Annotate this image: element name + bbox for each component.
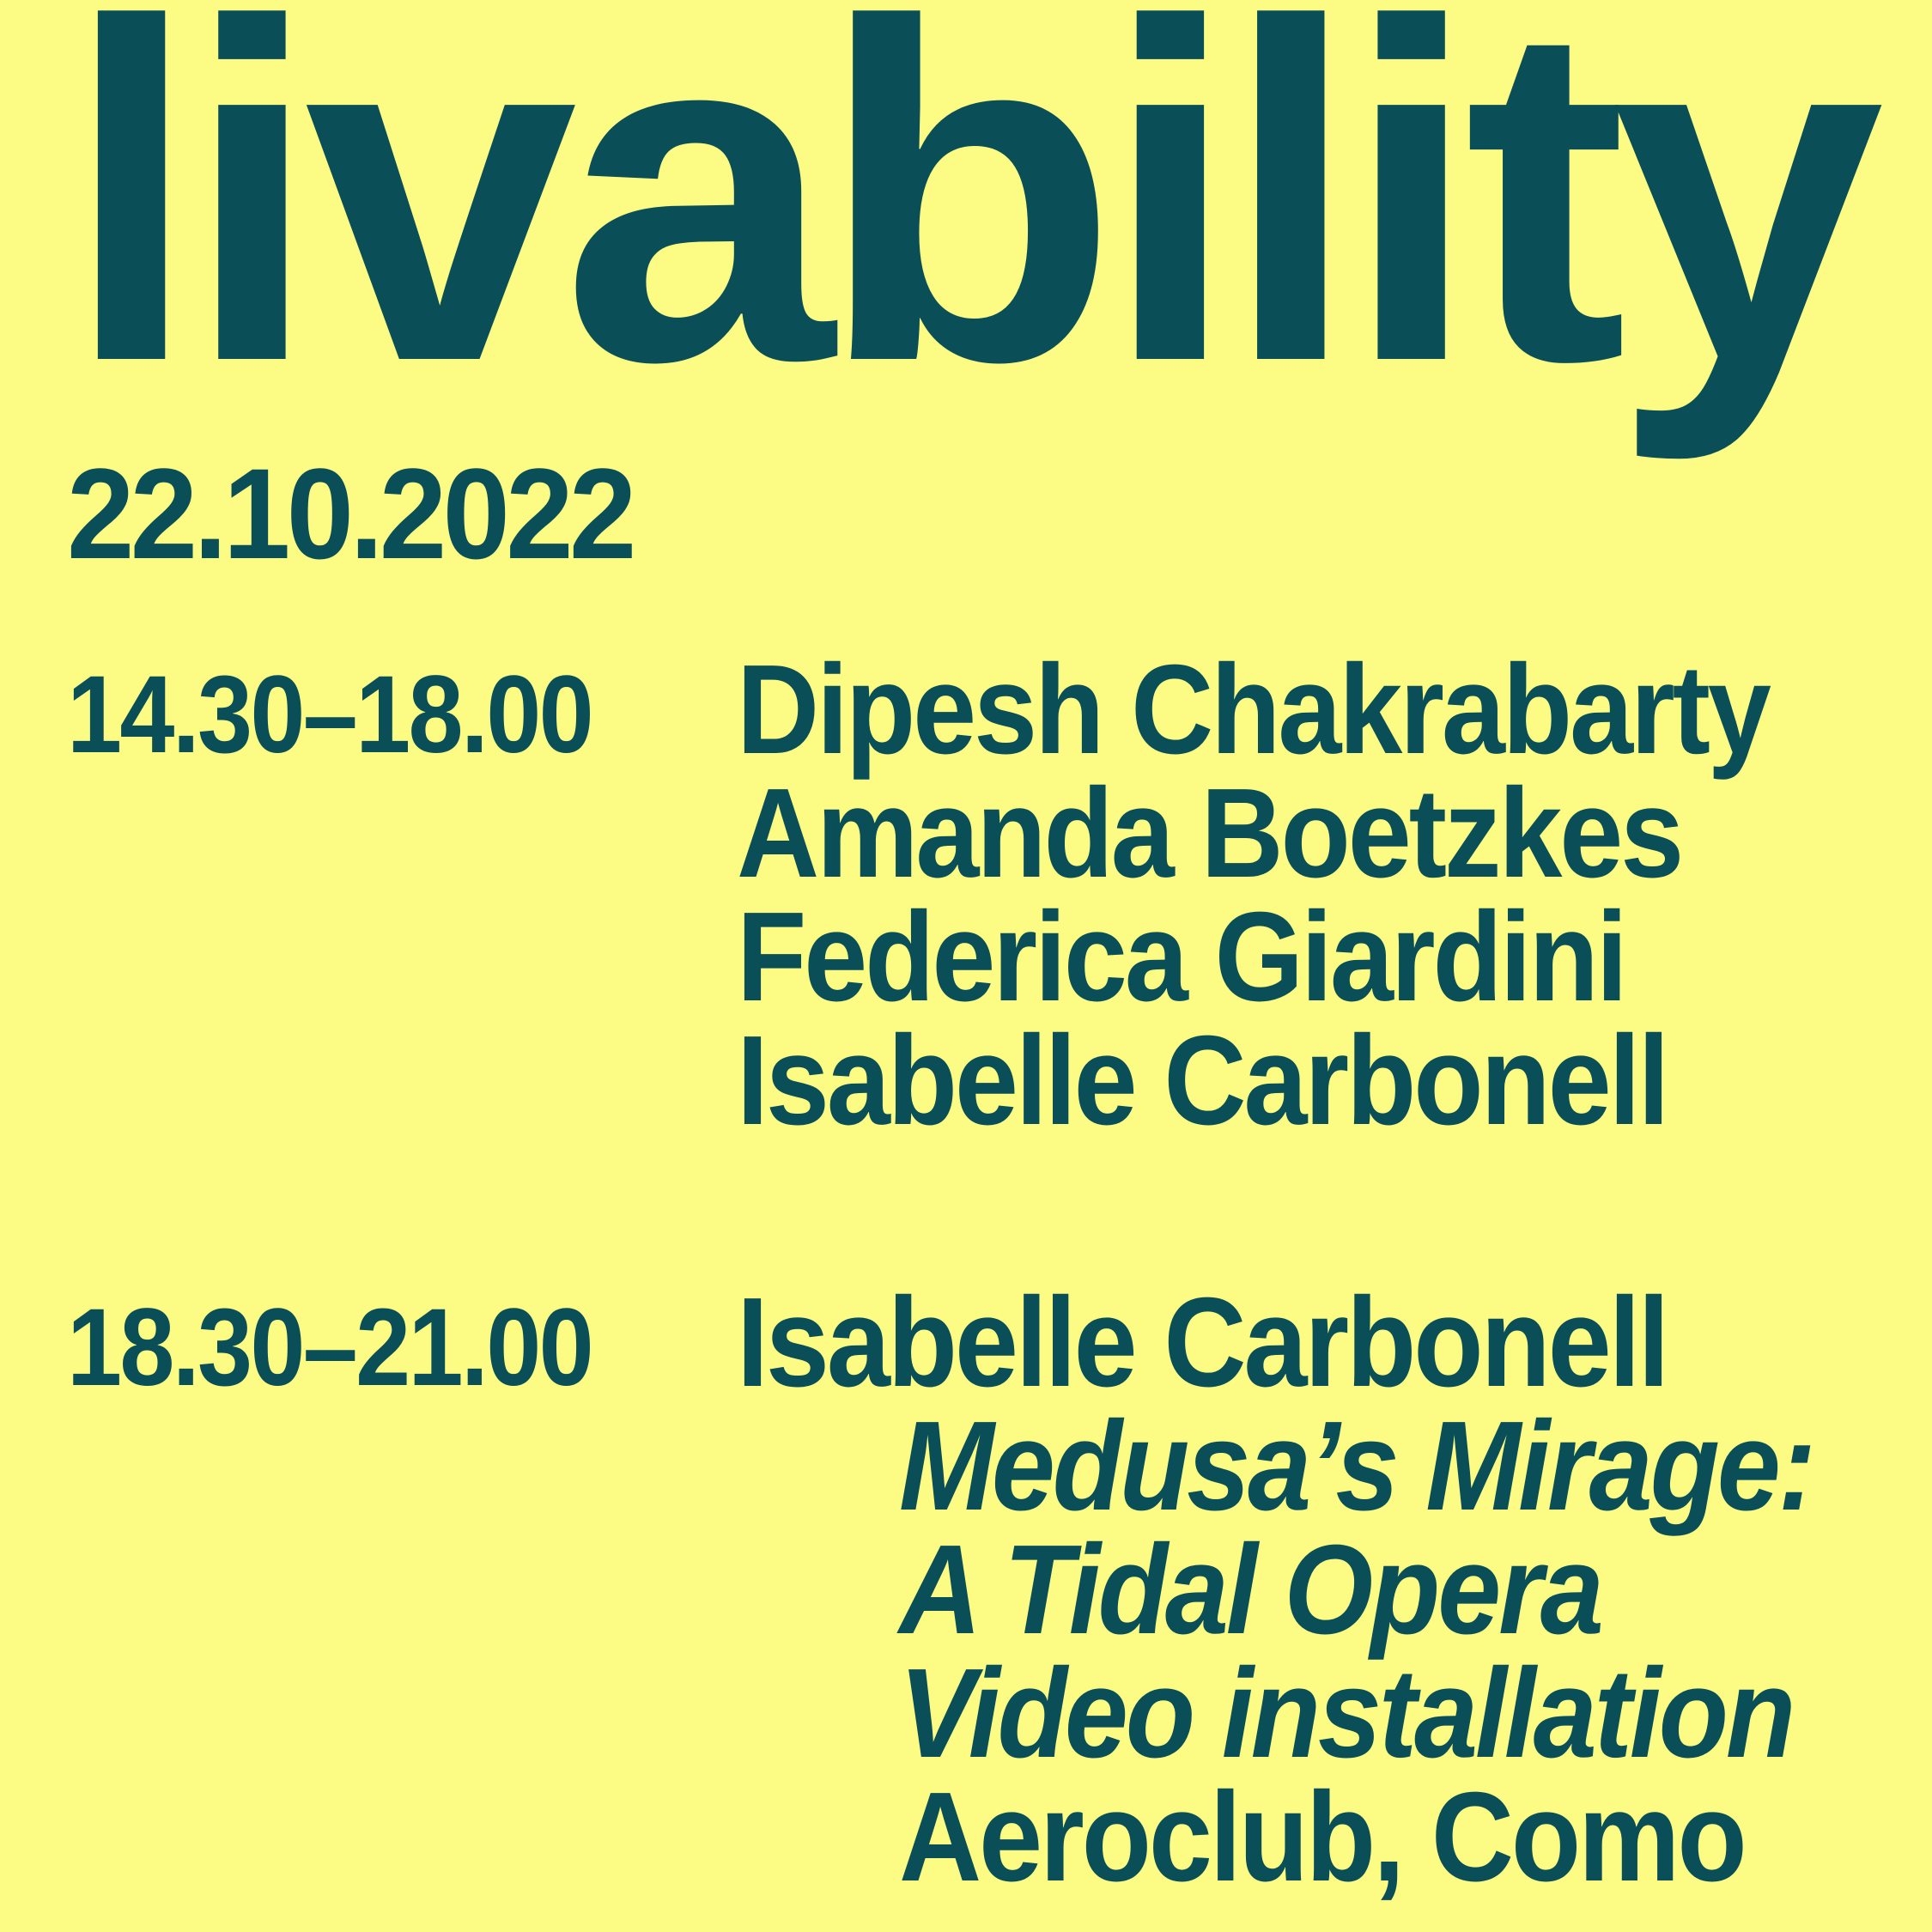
session-lines: Isabelle Carbonell Medusa’s Mirage: A Ti… xyxy=(737,1281,1887,1899)
page-title: livability xyxy=(64,0,1868,433)
session-time: 14.30–18.00 xyxy=(67,660,592,770)
session-line: Amanda Boetzkes xyxy=(737,772,1772,896)
session-line: Video installation xyxy=(737,1652,1772,1776)
session-line: Isabelle Carbonell xyxy=(737,1281,1772,1405)
session-time: 18.30–21.00 xyxy=(67,1293,592,1403)
session-line: A Tidal Opera xyxy=(737,1528,1772,1652)
session-line: Isabelle Carbonell xyxy=(737,1019,1772,1143)
session-line: Medusa’s Mirage: xyxy=(737,1405,1772,1528)
session-line: Aeroclub, Como xyxy=(737,1776,1772,1899)
event-date: 22.10.2022 xyxy=(67,449,633,578)
session-lines: Dipesh Chakrabarty Amanda Boetzkes Feder… xyxy=(737,648,1887,1143)
poster-canvas: livability 22.10.2022 14.30–18.00 Dipesh… xyxy=(0,0,1932,1932)
session-line: Dipesh Chakrabarty xyxy=(737,648,1772,772)
session-line: Federica Giardini xyxy=(737,896,1772,1019)
